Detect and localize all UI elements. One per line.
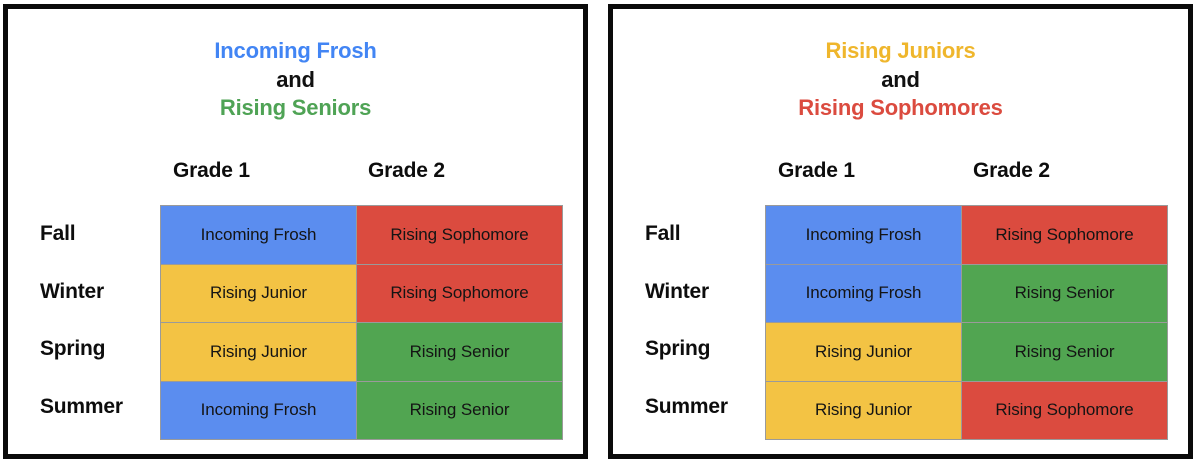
cell-right-fall-grade2[interactable]: Rising Sophomore xyxy=(962,206,1168,265)
cell-right-spring-grade2[interactable]: Rising Senior xyxy=(962,323,1168,382)
screenshot-root: Incoming Frosh and Rising Seniors Grade … xyxy=(0,0,1200,471)
panel-right-matrix: Incoming Frosh Rising Sophomore Incoming… xyxy=(765,205,1168,440)
cell-left-spring-grade2[interactable]: Rising Senior xyxy=(357,323,563,382)
table-row: Incoming Frosh Rising Senior xyxy=(161,381,563,440)
panel-left-matrix: Incoming Frosh Rising Sophomore Rising J… xyxy=(160,205,563,440)
cell-right-summer-grade2[interactable]: Rising Sophomore xyxy=(962,381,1168,440)
table-row: Incoming Frosh Rising Sophomore xyxy=(766,206,1168,265)
panel-left-title: Incoming Frosh and Rising Seniors xyxy=(8,37,583,123)
panel-right-title-conjunction: and xyxy=(613,66,1188,95)
table-row: Incoming Frosh Rising Senior xyxy=(766,264,1168,323)
cell-left-winter-grade2[interactable]: Rising Sophomore xyxy=(357,264,563,323)
panel-incoming-frosh-rising-seniors: Incoming Frosh and Rising Seniors Grade … xyxy=(3,4,588,459)
panel-right-column-header-grade-1: Grade 1 xyxy=(778,159,855,183)
panel-rising-juniors-rising-sophomores: Rising Juniors and Rising Sophomores Gra… xyxy=(608,4,1193,459)
panel-right-row-label-fall: Fall xyxy=(645,205,680,263)
cell-left-fall-grade2[interactable]: Rising Sophomore xyxy=(357,206,563,265)
table-row: Rising Junior Rising Senior xyxy=(766,323,1168,382)
cell-right-winter-grade1[interactable]: Incoming Frosh xyxy=(766,264,962,323)
cell-left-summer-grade2[interactable]: Rising Senior xyxy=(357,381,563,440)
panel-left-row-label-spring: Spring xyxy=(40,320,105,378)
panel-left-row-label-summer: Summer xyxy=(40,378,123,436)
panel-left-row-label-fall: Fall xyxy=(40,205,75,263)
panel-left-column-header-grade-2: Grade 2 xyxy=(368,159,445,183)
cell-left-winter-grade1[interactable]: Rising Junior xyxy=(161,264,357,323)
cell-left-spring-grade1[interactable]: Rising Junior xyxy=(161,323,357,382)
cell-right-winter-grade2[interactable]: Rising Senior xyxy=(962,264,1168,323)
table-row: Rising Junior Rising Sophomore xyxy=(766,381,1168,440)
panel-right-row-label-winter: Winter xyxy=(645,263,709,321)
panel-left-column-header-grade-1: Grade 1 xyxy=(173,159,250,183)
panel-left-row-label-winter: Winter xyxy=(40,263,104,321)
cell-left-fall-grade1[interactable]: Incoming Frosh xyxy=(161,206,357,265)
panel-left-title-line1: Incoming Frosh xyxy=(8,37,583,66)
panel-right-title-line1: Rising Juniors xyxy=(613,37,1188,66)
panel-right-row-label-summer: Summer xyxy=(645,378,728,436)
panel-right-row-label-spring: Spring xyxy=(645,320,710,378)
table-row: Incoming Frosh Rising Sophomore xyxy=(161,206,563,265)
table-row: Rising Junior Rising Sophomore xyxy=(161,264,563,323)
panel-left-title-line3: Rising Seniors xyxy=(8,94,583,123)
table-row: Rising Junior Rising Senior xyxy=(161,323,563,382)
cell-right-fall-grade1[interactable]: Incoming Frosh xyxy=(766,206,962,265)
panel-right-column-header-grade-2: Grade 2 xyxy=(973,159,1050,183)
cell-right-spring-grade1[interactable]: Rising Junior xyxy=(766,323,962,382)
panel-right-title: Rising Juniors and Rising Sophomores xyxy=(613,37,1188,123)
panel-left-title-conjunction: and xyxy=(8,66,583,95)
cell-right-summer-grade1[interactable]: Rising Junior xyxy=(766,381,962,440)
panel-right-title-line3: Rising Sophomores xyxy=(613,94,1188,123)
cell-left-summer-grade1[interactable]: Incoming Frosh xyxy=(161,381,357,440)
